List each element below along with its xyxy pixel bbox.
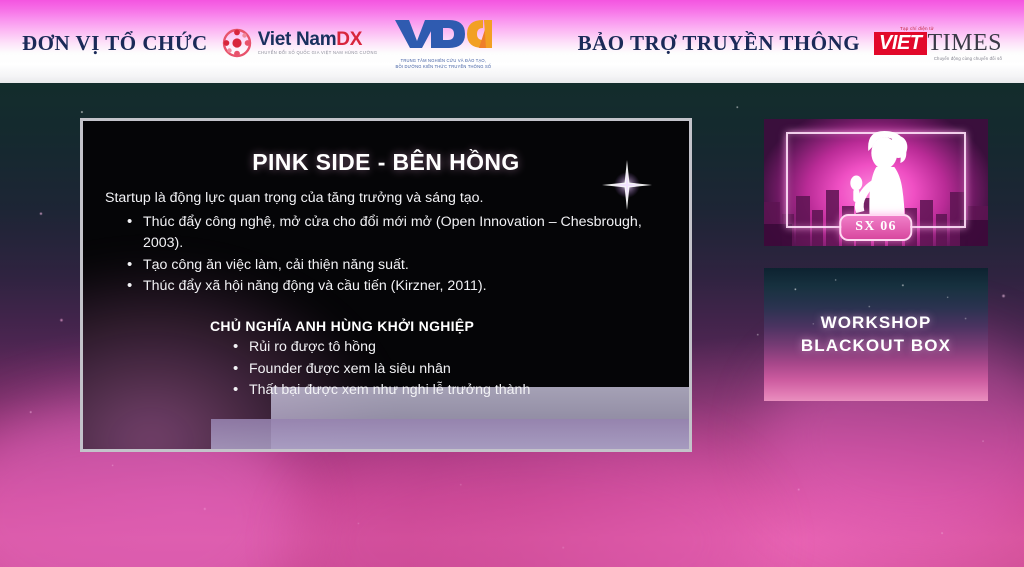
slide-bullet-list: Thúc đẩy công nghệ, mở cửa cho đổi mới m…: [127, 212, 667, 297]
slide-lead-text: Startup là động lực quan trọng của tăng …: [105, 188, 667, 208]
presentation-slide[interactable]: PINK SIDE - BÊN HỒNG Startup là động lực…: [80, 118, 692, 452]
vietnam-dx-name-text: Viet Nam: [258, 29, 337, 50]
viettimes-name: TIMES: [928, 32, 1003, 55]
viettimes-logo: Tạp chí điện tử VIET TIMES Chuyển động c…: [874, 26, 1002, 61]
list-item: Thúc đẩy xã hội năng động và cầu tiến (K…: [127, 276, 667, 297]
list-item: Thúc đẩy công nghệ, mở cửa cho đổi mới m…: [127, 212, 667, 255]
viettimes-slogan: Chuyển động cùng chuyển đổi số: [874, 56, 1002, 61]
list-item: Thất bại được xem như nghi lễ trưởng thà…: [233, 380, 667, 401]
list-item: Tạo công ăn việc làm, cải thiện năng suấ…: [127, 255, 667, 276]
workshop-title-line2: BLACKOUT BOX: [801, 335, 951, 357]
vietnam-dx-tagline: CHUYỂN ĐỔI SỐ QUỐC GIA VIỆT NAM HÙNG CƯỜ…: [258, 51, 378, 55]
slide-platform-front: [211, 419, 689, 449]
vietnam-dx-mark-icon: [222, 28, 252, 58]
slide-body: PINK SIDE - BÊN HỒNG Startup là động lực…: [83, 121, 689, 401]
list-item: Founder được xem là siêu nhân: [233, 359, 667, 380]
sponsor-header-bar: ĐƠN VỊ TỔ CHỨC: [0, 0, 1024, 83]
speaker-card[interactable]: SX 06: [764, 119, 988, 246]
media-sponsor-group: BẢO TRỢ TRUYỀN THÔNG Tạp chí điện tử VIE…: [578, 14, 1002, 72]
workshop-card[interactable]: WORKSHOP BLACKOUT BOX: [764, 268, 988, 401]
vdca-tagline: TRUNG TÂM NGHIÊN CỨU VÀ ĐÀO TẠO, BỒI DƯỠ…: [396, 58, 492, 70]
vietnam-dx-suffix: DX: [336, 29, 362, 50]
viettimes-mark: VIET: [874, 32, 926, 55]
organizer-group: ĐƠN VỊ TỔ CHỨC: [22, 14, 495, 72]
vdca-logo-icon: [391, 17, 495, 56]
speaker-session-badge: SX 06: [839, 214, 912, 241]
list-item: Rủi ro được tô hồng: [233, 337, 667, 358]
vietnam-dx-name: Viet NamDX: [258, 30, 378, 49]
workshop-title-line1: WORKSHOP: [821, 312, 932, 334]
media-sponsor-label: BẢO TRỢ TRUYỀN THÔNG: [578, 31, 860, 56]
slide-subheading: CHỦ NGHĨA ANH HÙNG KHỞI NGHIỆP: [210, 318, 667, 334]
vietnam-dx-logo: Viet NamDX CHUYỂN ĐỔI SỐ QUỐC GIA VIỆT N…: [222, 28, 378, 58]
vdca-tagline-line2: BỒI DƯỠNG KIẾN THỨC TRUYỀN THÔNG SỐ: [396, 64, 492, 70]
slide-title: PINK SIDE - BÊN HỒNG: [105, 149, 667, 176]
vdca-logo: TRUNG TÂM NGHIÊN CỨU VÀ ĐÀO TẠO, BỒI DƯỠ…: [391, 17, 495, 70]
vdca-tagline-line1: TRUNG TÂM NGHIÊN CỨU VÀ ĐÀO TẠO,: [396, 58, 492, 64]
slide-sub-bullet-list: Rủi ro được tô hồng Founder được xem là …: [233, 337, 667, 401]
organizer-label: ĐƠN VỊ TỔ CHỨC: [22, 31, 208, 56]
